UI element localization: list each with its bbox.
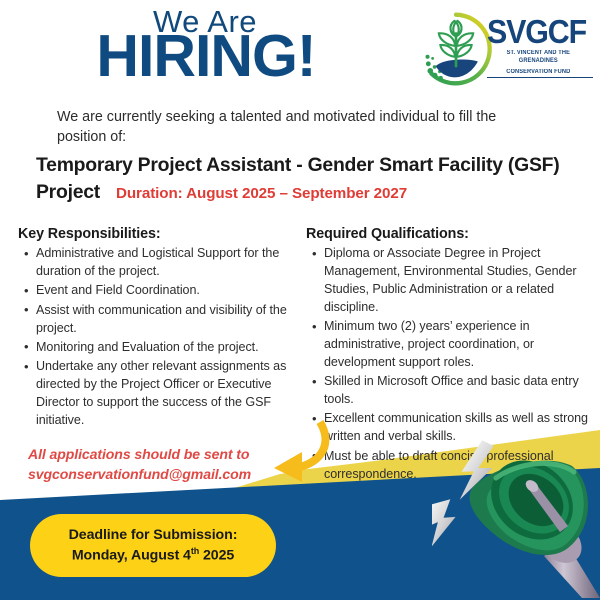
curved-arrow-icon [258, 418, 338, 488]
list-item: Minimum two (2) years’ experience in adm… [324, 318, 594, 372]
megaphone-icon [432, 438, 600, 600]
logo-wordmark: SVGCF ST. VINCENT AND THE GRENADINES CON… [487, 16, 599, 78]
job-title: Temporary Project Assistant - Gender Sma… [36, 152, 570, 206]
qualifications-heading: Required Qualifications: [306, 226, 594, 242]
list-item: Diploma or Associate Degree in Project M… [324, 245, 594, 317]
list-item: Assist with communication and visibility… [36, 302, 300, 338]
logo-acronym: SVGCF [487, 16, 590, 47]
list-item: Administrative and Logistical Support fo… [36, 245, 300, 281]
logo-divider [487, 77, 593, 78]
deadline-line-2: Monday, August 4th 2025 [72, 545, 234, 566]
logo-subtitle-line2: CONSERVATION FUND [487, 68, 590, 76]
responsibilities-list: Administrative and Logistical Support fo… [18, 245, 300, 430]
svgcf-logo: SVGCF ST. VINCENT AND THE GRENADINES CON… [417, 8, 597, 94]
list-item: Event and Field Coordination. [36, 282, 300, 300]
list-item: Monitoring and Evaluation of the project… [36, 339, 300, 357]
application-line-1: All applications should be sent to [28, 445, 278, 465]
duration-text: Duration: August 2025 – September 2027 [116, 184, 407, 205]
headline-large: HIRING! [26, 27, 386, 86]
application-instructions: All applications should be sent to svgco… [28, 445, 278, 484]
logo-subtitle-line1: ST. VINCENT AND THE GRENADINES [487, 49, 590, 65]
plant-in-hand-emblem-icon [417, 10, 495, 88]
responsibilities-section: Key Responsibilities: Administrative and… [18, 226, 300, 431]
deadline-line-1: Deadline for Submission: [69, 525, 238, 546]
deadline-pill: Deadline for Submission:Monday, August 4… [30, 514, 276, 577]
list-item: Skilled in Microsoft Office and basic da… [324, 373, 594, 409]
application-email[interactable]: svgconservationfund@gmail.com [28, 465, 278, 485]
responsibilities-heading: Key Responsibilities: [18, 226, 300, 242]
intro-text: We are currently seeking a talented and … [57, 108, 527, 147]
sound-bolt-lower [432, 499, 457, 547]
job-posting-poster: We Are HIRING! [0, 0, 600, 600]
